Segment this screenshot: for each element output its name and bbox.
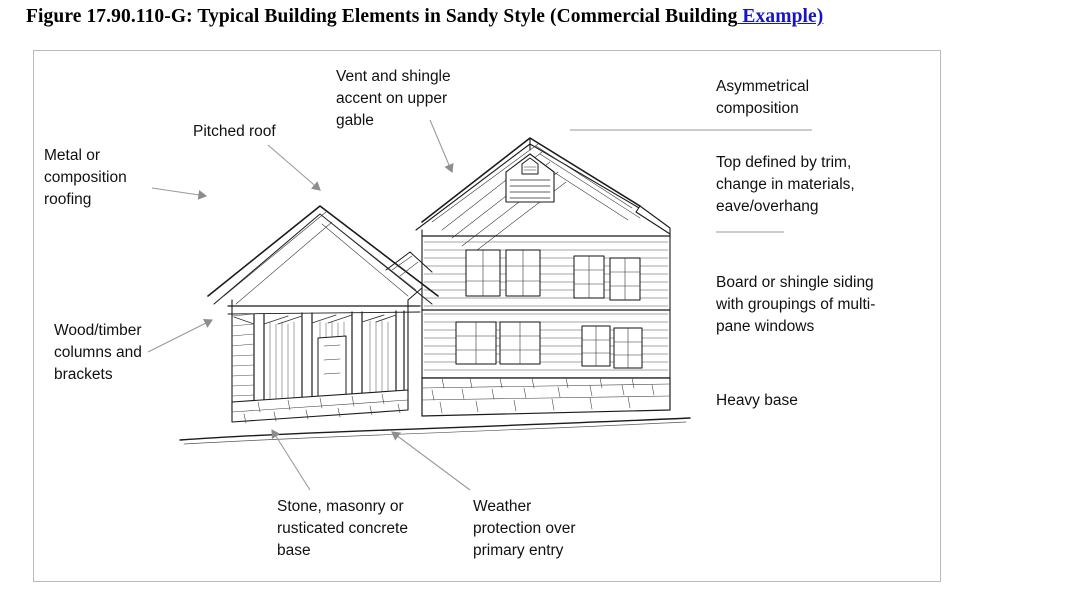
example-link[interactable]: Example) [737, 6, 823, 27]
annotation-stone-masonry-base: Stone, masonry or rusticated concrete ba… [277, 496, 408, 562]
building-sketch [170, 110, 700, 460]
annotation-weather-protection: Weather protection over primary entry [473, 496, 576, 562]
figure-caption-text: Figure 17.90.110-G: Typical Building Ele… [26, 6, 737, 27]
annotation-heavy-base: Heavy base [716, 390, 798, 412]
annotation-asymmetrical-composition: Asymmetrical composition [716, 76, 809, 120]
annotation-wood-timber-columns-and-brackets: Wood/timber columns and brackets [54, 320, 142, 386]
annotation-metal-or-composition-roofing: Metal or composition roofing [44, 145, 127, 211]
annotation-pitched-roof: Pitched roof [193, 121, 276, 143]
annotation-board-or-shingle-siding: Board or shingle siding with groupings o… [716, 272, 875, 338]
annotation-vent-and-shingle-accent: Vent and shingle accent on upper gable [336, 66, 451, 132]
figure-caption: Figure 17.90.110-G: Typical Building Ele… [26, 6, 823, 28]
figure-page: Figure 17.90.110-G: Typical Building Ele… [0, 0, 1071, 596]
annotation-top-defined-by-trim: Top defined by trim, change in materials… [716, 152, 855, 218]
